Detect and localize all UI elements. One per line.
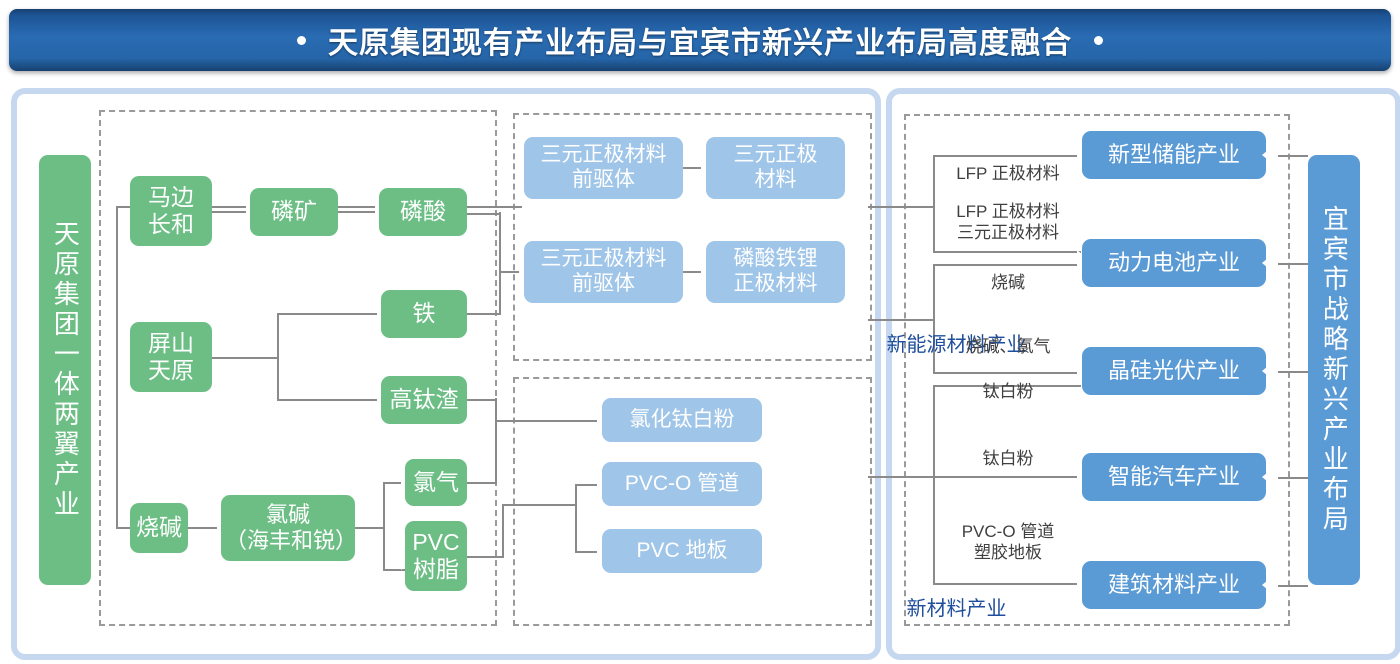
node-industry-smart-auto[interactable]: 智能汽车产业	[1082, 453, 1266, 501]
connector-cross-bottom	[868, 476, 934, 478]
connector-cross-top	[868, 206, 934, 208]
arrowhead-pv-from-spine	[1262, 358, 1278, 384]
connector-right-tree1-battery	[933, 251, 1081, 253]
node-pvc-resin[interactable]: PVC 树脂	[405, 521, 467, 591]
node-high-titanium-slag[interactable]: 高钛渣	[381, 376, 467, 424]
node-industry-photovoltaic[interactable]: 晶硅光伏产业	[1082, 347, 1266, 395]
connector-pingshan-junction	[212, 357, 278, 359]
node-ncm-precursor-2[interactable]: 三元正极材料 前驱体	[524, 241, 683, 303]
connector-tie-merge	[467, 313, 500, 315]
connector-merge-phosphate-iron	[499, 212, 501, 315]
node-mabian-changhe[interactable]: 马边 长和	[130, 176, 212, 246]
arrowhead-building-from-spine	[1262, 572, 1278, 598]
flow-label-caustic-chlorine: 烧碱、氯气	[934, 336, 1082, 357]
arrowhead-battery-from-spine	[1262, 250, 1278, 276]
flow-label-lfp: LFP 正极材料	[934, 163, 1082, 184]
node-caustic-soda-source[interactable]: 烧碱	[130, 503, 188, 553]
flow-label-titanium-dioxide-b: 钛白粉	[934, 448, 1082, 469]
connector-pvc-riser	[502, 505, 504, 558]
bullet-right-icon	[1094, 36, 1103, 45]
connector-merge-to-tio2	[495, 420, 601, 422]
connector-right-tree1-storage	[933, 155, 1081, 157]
node-chlorine[interactable]: 氯气	[405, 459, 467, 506]
connector-spine-to-naoh	[116, 527, 130, 529]
connector-right-tree2-battery	[933, 264, 1081, 266]
node-phosphate-ore[interactable]: 磷矿	[250, 188, 338, 236]
arrowhead-storage-from-spine	[1262, 142, 1278, 168]
left-spine-bar: 天原集团一体两翼产业	[39, 155, 91, 585]
node-industry-storage[interactable]: 新型储能产业	[1082, 131, 1266, 179]
connector-cl2-merge	[467, 482, 496, 484]
node-ncm-precursor-1[interactable]: 三元正极材料 前驱体	[524, 137, 683, 199]
flow-label-titanium-dioxide-a: 钛白粉	[934, 381, 1082, 402]
connector-pvc-out	[467, 556, 503, 558]
connector-chloralkali-split	[383, 483, 385, 571]
connector-linsuan-merge	[467, 213, 500, 215]
connector-pvc-split	[575, 485, 577, 553]
node-industry-battery[interactable]: 动力电池产业	[1082, 239, 1266, 287]
page-title-bar: 天原集团现有产业布局与宜宾市新兴产业布局高度融合	[9, 9, 1391, 71]
connector-merge-ti-cl	[495, 398, 497, 484]
connector-right-tree3-building	[933, 583, 1081, 585]
node-industry-building-materials[interactable]: 建筑材料产业	[1082, 561, 1266, 609]
node-ncm-cathode[interactable]: 三元正极 材料	[706, 137, 845, 199]
node-pvc-floor[interactable]: PVC 地板	[602, 529, 762, 573]
node-lfp-cathode[interactable]: 磷酸铁锂 正极材料	[706, 241, 845, 303]
connector-pingshan-gaotizha	[277, 399, 381, 401]
right-spine-bar: 宜宾市战略新兴产业布局	[1308, 155, 1360, 585]
connector-right-tree3-auto	[933, 476, 1081, 478]
connector-chloralkali-junction	[355, 527, 384, 529]
bullet-left-icon	[297, 36, 306, 45]
connector-cross-mid	[868, 319, 934, 321]
diagram-canvas: 天原集团现有产业布局与宜宾市新兴产业布局高度融合	[0, 0, 1400, 664]
connector-linkuang-linsuan	[338, 211, 380, 213]
arrowhead-auto-from-spine	[1262, 464, 1278, 490]
flow-label-lfp-ncm: LFP 正极材料 三元正极材料	[934, 201, 1082, 244]
flow-label-caustic-soda: 烧碱	[934, 272, 1082, 293]
node-chlorinated-titanium-dioxide[interactable]: 氯化钛白粉	[602, 398, 762, 442]
node-phosphoric-acid[interactable]: 磷酸	[379, 188, 467, 236]
page-title: 天原集团现有产业布局与宜宾市新兴产业布局高度融合	[328, 18, 1072, 62]
connector-gaotizha-merge	[467, 399, 496, 401]
flow-label-pvco-flooring: PVC-O 管道 塑胶地板	[934, 521, 1082, 564]
node-chloralkali[interactable]: 氯碱 （海丰和锐）	[221, 495, 355, 561]
connector-pingshan-tie	[277, 313, 381, 315]
node-pvco-pipe[interactable]: PVC-O 管道	[602, 462, 762, 506]
connector-right-tree2-pv	[933, 372, 1081, 374]
connector-pvc-to-junction	[502, 504, 576, 506]
connector-spine-left	[116, 206, 118, 529]
